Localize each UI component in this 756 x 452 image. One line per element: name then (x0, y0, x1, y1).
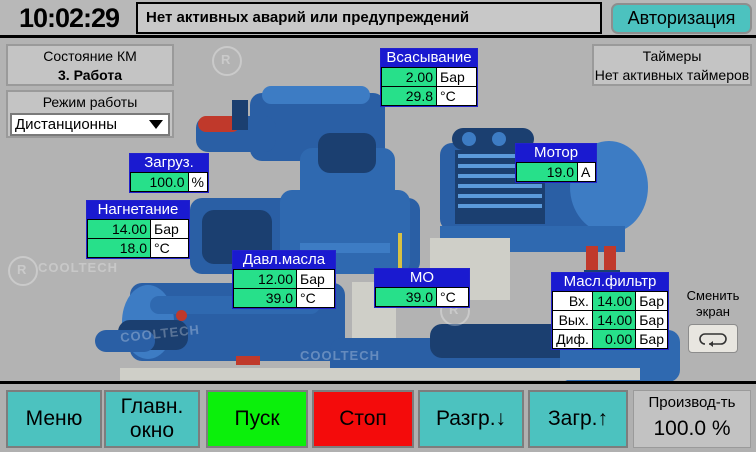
measurement-row: Диф. 0.00 Бар (553, 330, 668, 349)
motor-current-unit: A (578, 163, 596, 182)
oil-temperature-value: 39.0 (234, 289, 297, 308)
mode-selected-value: Дистанционны (15, 116, 117, 133)
discharge-temperature-value: 18.0 (88, 239, 151, 258)
change-screen-button[interactable] (688, 324, 738, 353)
discharge-pressure-unit: Бар (151, 220, 189, 239)
discharge-pressure-value: 14.00 (88, 220, 151, 239)
suction-temperature-value: 29.8 (382, 87, 437, 106)
motor-title: Мотор (516, 144, 596, 162)
oil-temperature-unit: °C (297, 289, 335, 308)
oil-filter-outlet-value: 14.00 (592, 311, 635, 330)
capacity-value: 100.0 % (634, 415, 750, 443)
load-unit: % (188, 173, 207, 192)
status-value: 3. Работа (8, 66, 172, 85)
oil-pressure-value: 12.00 (234, 270, 297, 289)
discharge-temperature-unit: °C (151, 239, 189, 258)
main-window-button[interactable]: Главн. окно (104, 390, 200, 448)
capacity-label: Производ-ть (634, 391, 750, 415)
mode-select-dropdown[interactable]: Дистанционны (10, 113, 170, 136)
measurement-row: 18.0 °C (88, 239, 189, 258)
clock-display: 10:02:29 (5, 1, 133, 35)
measurement-row: 14.00 Бар (88, 220, 189, 239)
oil-filter-inlet-unit: Бар (636, 292, 668, 311)
compressor-status-panel: Состояние КМ 3. Работа (6, 44, 174, 86)
loop-arrow-icon (697, 331, 729, 347)
discharge-title: Нагнетание (87, 201, 189, 219)
watermark-mark (8, 256, 38, 286)
oil-pressure-unit: Бар (297, 270, 335, 289)
hmi-screen: 10:02:29 Нет активных аварий или предупр… (0, 0, 756, 452)
stop-button[interactable]: Стоп (312, 390, 414, 448)
measurement-row: 29.8 °C (382, 87, 477, 106)
measurement-row: 12.00 Бар (234, 270, 335, 289)
start-button[interactable]: Пуск (206, 390, 308, 448)
oil-filter-diff-unit: Бар (636, 330, 668, 349)
change-screen-control: Сменить экран (676, 288, 750, 353)
measurement-row: 19.0 A (517, 163, 596, 182)
timers-panel: Таймеры Нет активных таймеров (592, 44, 752, 86)
measurement-row: 2.00 Бар (382, 68, 477, 87)
watermark-mark (212, 46, 242, 76)
load-title: Загруз. (130, 154, 208, 172)
suction-pressure-value: 2.00 (382, 68, 437, 87)
discharge-measurement: Нагнетание 14.00 Бар 18.0 °C (86, 200, 190, 259)
measurement-row: Вых. 14.00 Бар (553, 311, 668, 330)
measurement-row: Вх. 14.00 Бар (553, 292, 668, 311)
oil-pressure-measurement: Давл.масла 12.00 Бар 39.0 °C (232, 250, 336, 309)
chevron-down-icon (149, 120, 163, 129)
capacity-panel: Производ-ть 100.0 % (633, 390, 751, 448)
measurement-row: 100.0 % (131, 173, 208, 192)
mo-unit: °C (437, 288, 469, 307)
oil-filter-diff-value: 0.00 (592, 330, 635, 349)
watermark-text: COOLTECH (38, 260, 118, 275)
timers-value: Нет активных таймеров (594, 66, 750, 85)
oil-filter-measurement: Масл.фильтр Вх. 14.00 Бар Вых. 14.00 Бар… (551, 272, 669, 350)
suction-measurement: Всасывание 2.00 Бар 29.8 °C (380, 48, 478, 107)
measurement-row: 39.0 °C (234, 289, 335, 308)
unload-button[interactable]: Разгр.↓ (418, 390, 524, 448)
oil-filter-inlet-label: Вх. (553, 292, 593, 311)
oil-filter-inlet-value: 14.00 (592, 292, 635, 311)
suction-temperature-unit: °C (437, 87, 477, 106)
timers-title: Таймеры (594, 47, 750, 66)
load-button[interactable]: Загр.↑ (528, 390, 628, 448)
mo-value: 39.0 (376, 288, 437, 307)
bottom-button-bar: Меню Главн. окно Пуск Стоп Разгр.↓ Загр.… (0, 381, 756, 452)
mode-title: Режим работы (8, 92, 172, 112)
status-title: Состояние КМ (8, 47, 172, 66)
mo-title: МО (375, 269, 469, 287)
change-screen-label-line1: Сменить (676, 288, 750, 304)
change-screen-label-line2: экран (676, 304, 750, 320)
oil-filter-title: Масл.фильтр (552, 273, 668, 291)
menu-button[interactable]: Меню (6, 390, 102, 448)
oil-filter-outlet-label: Вых. (553, 311, 593, 330)
alarm-status-bar: Нет активных аварий или предупреждений (136, 2, 602, 34)
suction-pressure-unit: Бар (437, 68, 477, 87)
motor-measurement: Мотор 19.0 A (515, 143, 597, 183)
oil-filter-diff-label: Диф. (553, 330, 593, 349)
load-value: 100.0 (131, 173, 189, 192)
motor-current-value: 19.0 (517, 163, 578, 182)
oil-pressure-title: Давл.масла (233, 251, 335, 269)
mo-measurement: МО 39.0 °C (374, 268, 470, 308)
load-measurement: Загруз. 100.0 % (129, 153, 209, 193)
header-bar: 10:02:29 Нет активных аварий или предупр… (0, 0, 756, 38)
suction-title: Всасывание (381, 49, 477, 67)
authorization-button[interactable]: Авторизация (611, 3, 752, 34)
oil-filter-outlet-unit: Бар (636, 311, 668, 330)
operating-mode-panel: Режим работы Дистанционны (6, 90, 174, 138)
measurement-row: 39.0 °C (376, 288, 469, 307)
